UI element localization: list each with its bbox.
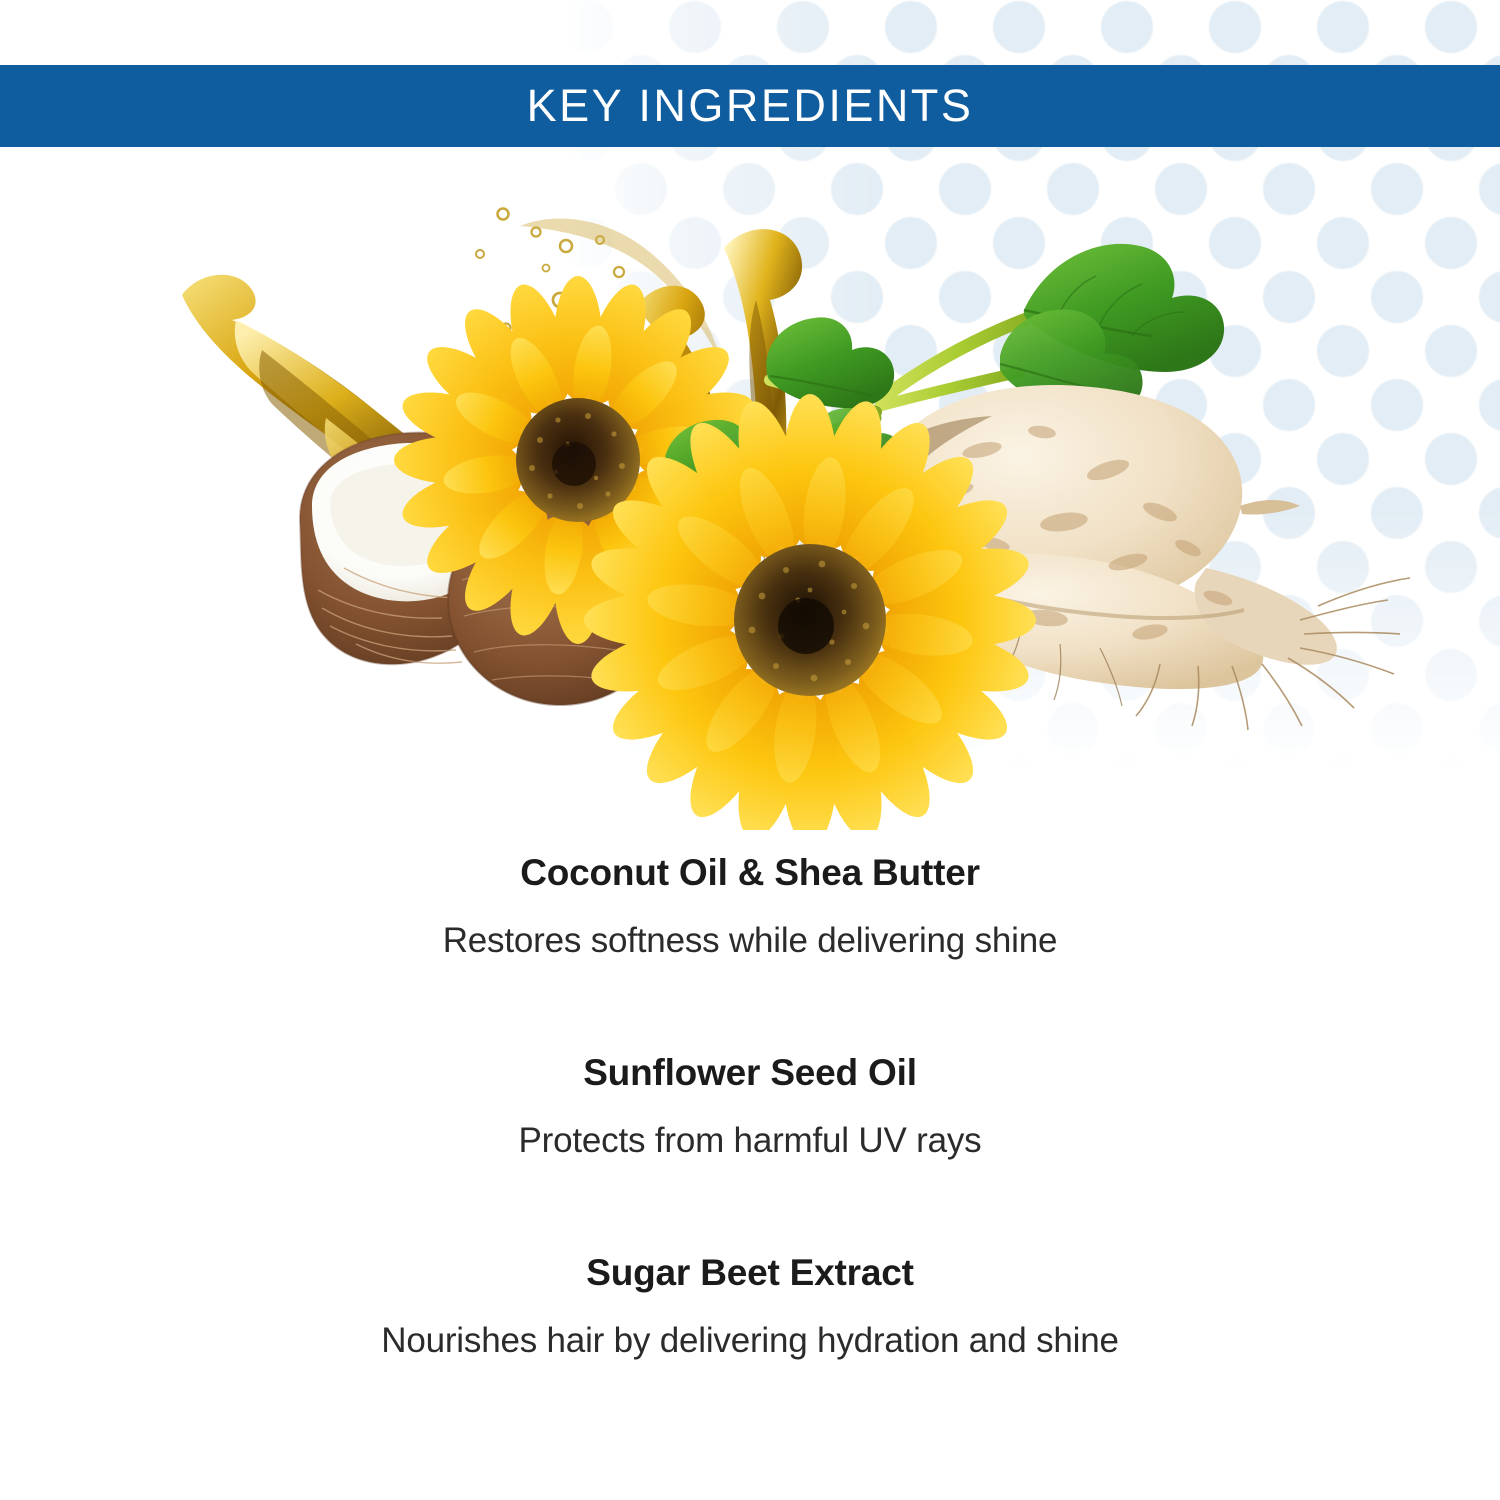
sunflower-lower-graphic [584, 394, 1036, 830]
ingredient-item-coconut: Coconut Oil & Shea Butter Restores softn… [0, 850, 1500, 964]
key-ingredients-infographic: KEY INGREDIENTS [0, 0, 1500, 1500]
ingredient-description: Protects from harmful UV rays [0, 1118, 1500, 1164]
page-title: KEY INGREDIENTS [527, 80, 974, 132]
header-banner: KEY INGREDIENTS [0, 65, 1500, 147]
ingredient-description: Nourishes hair by delivering hydration a… [0, 1318, 1500, 1364]
ingredient-name: Coconut Oil & Shea Butter [0, 850, 1500, 896]
ingredient-name: Sugar Beet Extract [0, 1250, 1500, 1296]
ingredient-name: Sunflower Seed Oil [0, 1050, 1500, 1096]
ingredient-list: Coconut Oil & Shea Butter Restores softn… [0, 850, 1500, 1363]
ingredient-item-sunflower: Sunflower Seed Oil Protects from harmful… [0, 1050, 1500, 1164]
ingredient-description: Restores softness while delivering shine [0, 918, 1500, 964]
hero-illustration [0, 150, 1500, 830]
ingredient-item-sugar-beet: Sugar Beet Extract Nourishes hair by del… [0, 1250, 1500, 1364]
